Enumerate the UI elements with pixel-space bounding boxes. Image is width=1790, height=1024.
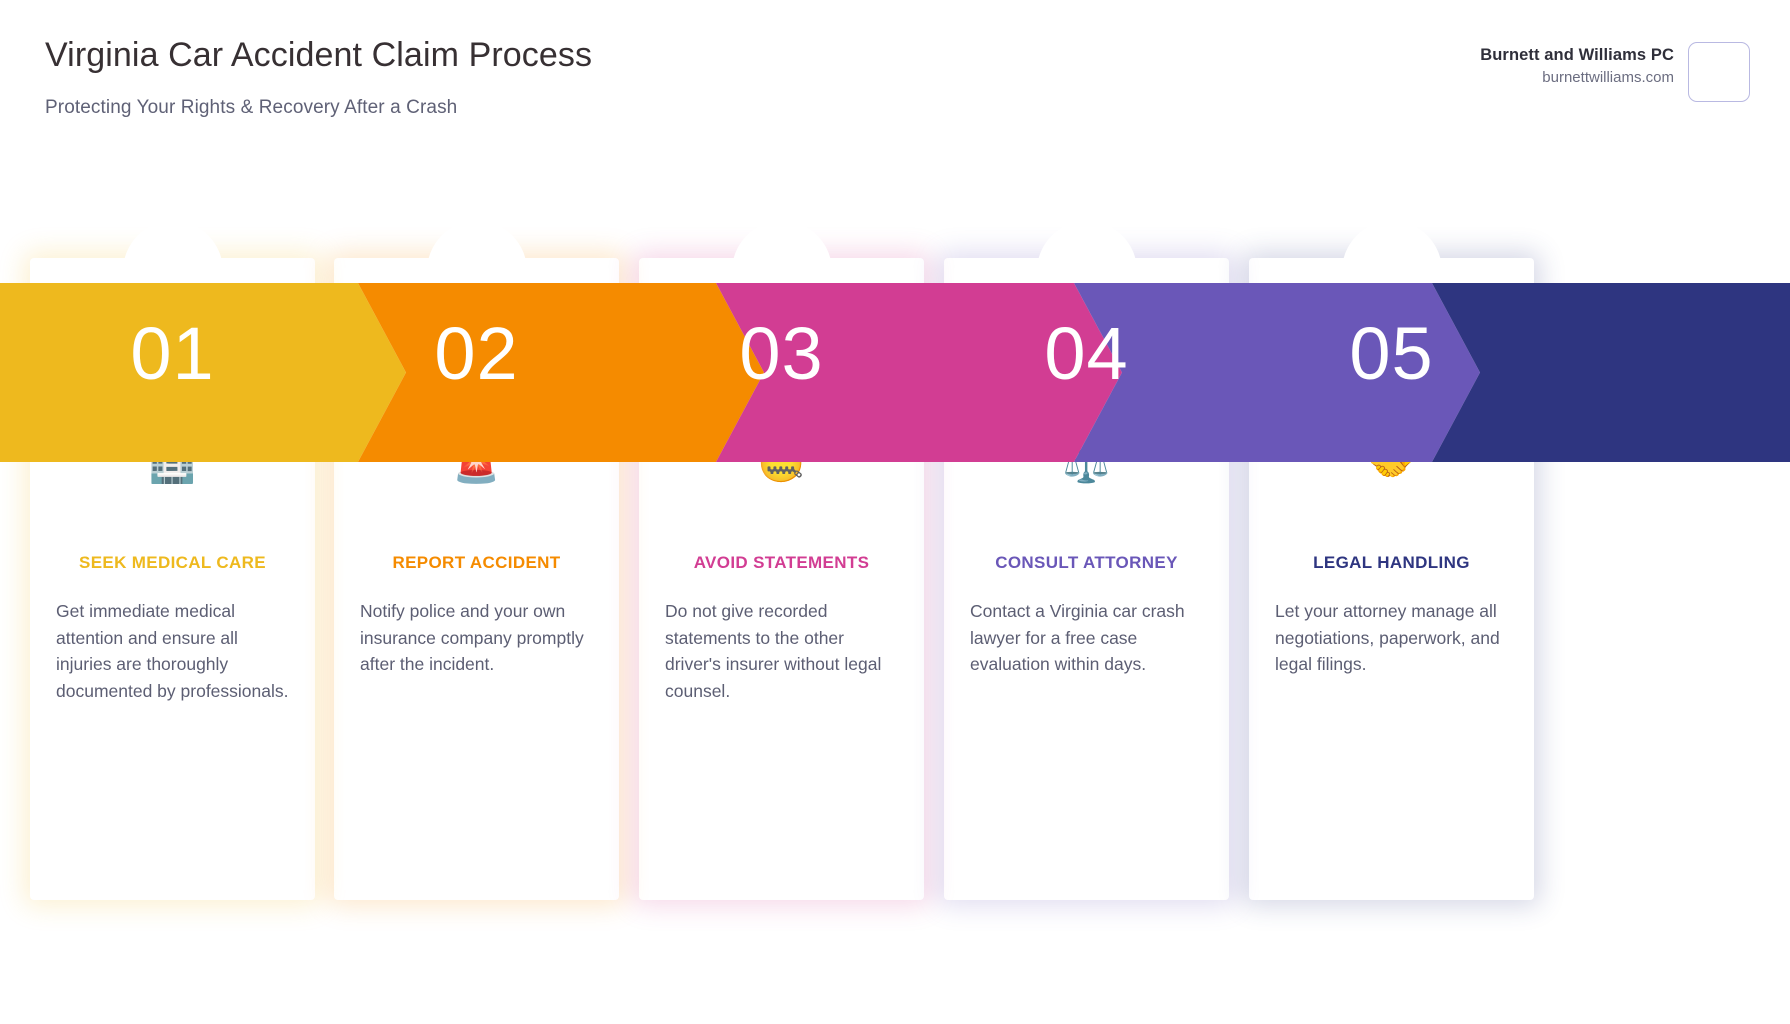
- title-block: Virginia Car Accident Claim Process Prot…: [45, 32, 665, 119]
- step-card-notch: [427, 221, 527, 321]
- brand-logo-placeholder: [1688, 42, 1750, 102]
- brand-website: burnettwilliams.com: [1480, 69, 1674, 86]
- brand-block: Burnett and Williams PC burnettwilliams.…: [1480, 42, 1750, 102]
- step-card[interactable]: 🤝LEGAL HANDLINGLet your attorney manage …: [1259, 268, 1524, 890]
- step-description: Notify police and your own insurance com…: [360, 598, 593, 678]
- step-title: CONSULT ATTORNEY: [954, 553, 1219, 573]
- step-card-notch: [1037, 221, 1137, 321]
- balance-scale-icon: ⚖️: [954, 445, 1219, 483]
- brand-name: Burnett and Williams PC: [1480, 46, 1674, 65]
- step-description: Get immediate medical attention and ensu…: [56, 598, 289, 704]
- page-header: Virginia Car Accident Claim Process Prot…: [0, 0, 1790, 200]
- steps-container: 🏥SEEK MEDICAL CAREGet immediate medical …: [0, 268, 1790, 890]
- step-card[interactable]: ⚖️CONSULT ATTORNEYContact a Virginia car…: [954, 268, 1219, 890]
- page-title: Virginia Car Accident Claim Process: [45, 32, 665, 79]
- handshake-icon: 🤝: [1259, 445, 1524, 483]
- brand-text: Burnett and Williams PC burnettwilliams.…: [1480, 42, 1674, 86]
- step-title: SEEK MEDICAL CARE: [40, 553, 305, 573]
- step-description: Do not give recorded statements to the o…: [665, 598, 898, 704]
- step-card[interactable]: 🏥SEEK MEDICAL CAREGet immediate medical …: [40, 268, 305, 890]
- step-card-notch: [123, 221, 223, 321]
- zipper-mouth-face-icon: 🤐: [649, 445, 914, 483]
- step-title: LEGAL HANDLING: [1259, 553, 1524, 573]
- hospital-icon: 🏥: [40, 445, 305, 483]
- infographic-page: Virginia Car Accident Claim Process Prot…: [0, 0, 1790, 1024]
- step-description: Let your attorney manage all negotiation…: [1275, 598, 1508, 678]
- step-card[interactable]: 🤐AVOID STATEMENTSDo not give recorded st…: [649, 268, 914, 890]
- step-card[interactable]: 🚨REPORT ACCIDENTNotify police and your o…: [344, 268, 609, 890]
- step-title: AVOID STATEMENTS: [649, 553, 914, 573]
- step-title: REPORT ACCIDENT: [344, 553, 609, 573]
- step-card-notch: [732, 221, 832, 321]
- police-light-icon: 🚨: [344, 445, 609, 483]
- step-description: Contact a Virginia car crash lawyer for …: [970, 598, 1203, 678]
- step-card-notch: [1342, 221, 1442, 321]
- page-subtitle: Protecting Your Rights & Recovery After …: [45, 97, 665, 119]
